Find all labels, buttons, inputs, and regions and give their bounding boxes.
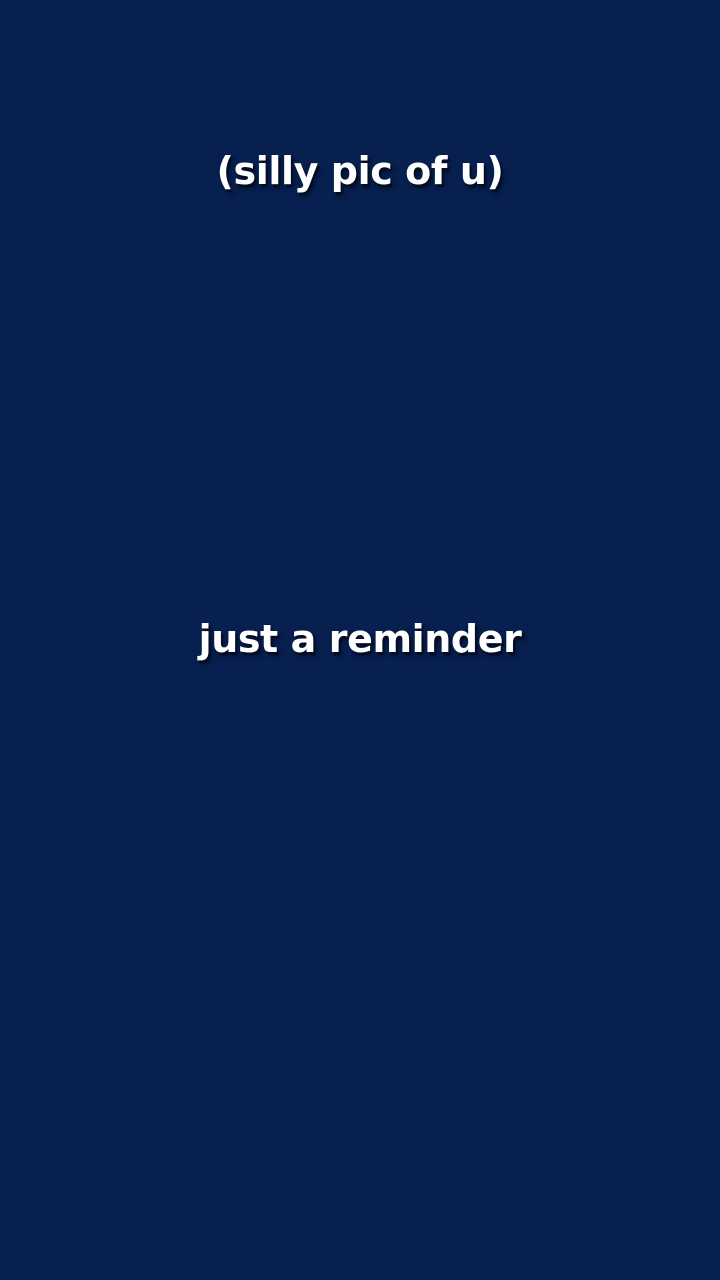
story-canvas: (silly pic of u) just a reminder <box>0 0 720 1280</box>
caption-text-middle: just a reminder <box>0 612 720 666</box>
caption-text-top: (silly pic of u) <box>0 144 720 198</box>
